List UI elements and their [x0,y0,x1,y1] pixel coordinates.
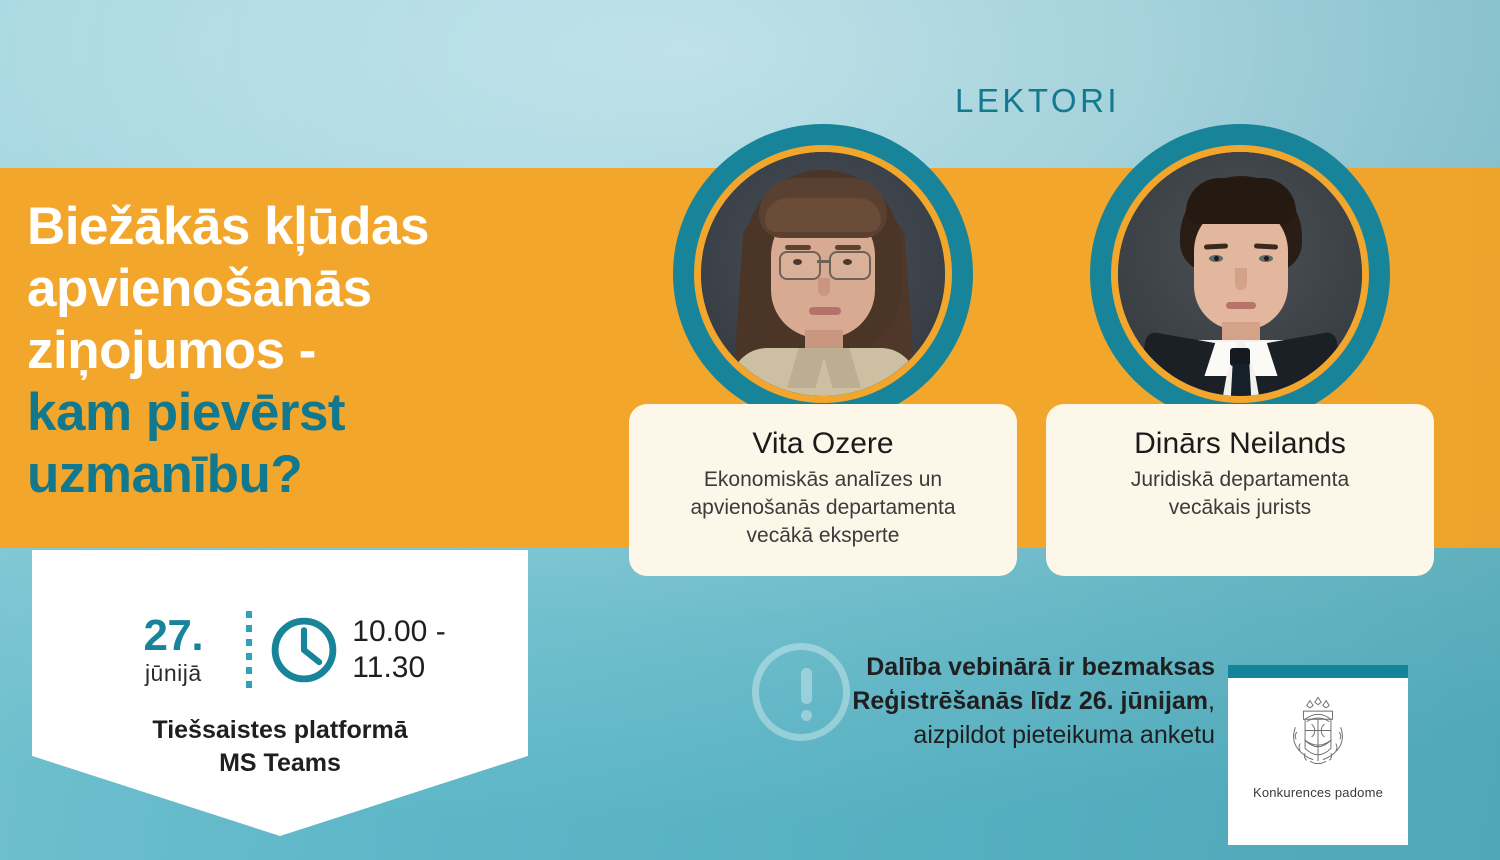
headline-line-1: Biežākās kļūdas [27,196,647,258]
nose [818,278,830,296]
hair-fringe-inner [765,198,881,232]
organisation-logo-card: Konkurences padome [1228,665,1408,845]
event-day: 27. [143,613,203,659]
mouth [1226,302,1256,309]
headline-line-3: ziņojumos - [27,320,647,382]
glasses-lens-right [829,251,871,280]
speaker-role-line-2: apvienošanās departamenta [649,494,997,522]
platform-line-1: Tiešsaistes platformā [32,714,528,747]
mouth [809,307,841,315]
speaker-name: Vita Ozere [649,426,997,462]
platform-line-2: MS Teams [32,747,528,780]
speaker-name: Dinārs Neilands [1066,426,1414,462]
registration-line-2: Reģistrēšanās līdz 26. jūnijam, [700,684,1215,718]
glasses-lens-left [779,251,821,280]
registration-line-1: Dalība vebinārā ir bezmaksas [700,650,1215,684]
registration-deadline: Reģistrēšanās līdz 26. jūnijam [852,687,1208,715]
page-title: Biežākās kļūdas apvienošanās ziņojumos -… [27,196,647,506]
eyebrow-right [835,245,861,250]
coat-of-arms-icon [1277,695,1359,779]
dotted-divider [246,611,252,689]
avatar-vita-ozere [673,124,973,424]
date-block: 27. jūnijā [114,613,232,687]
pupil-left [1214,256,1219,261]
necktie [1230,364,1252,396]
date-time-row: 27. jūnijā 10.00 - 11.30 [32,600,528,700]
nose [1235,268,1247,290]
registration-line-2-tail: , [1208,687,1215,715]
clock-icon [266,612,342,688]
event-platform: Tiešsaistes platformā MS Teams [32,714,528,780]
avatar-dinars-neilands [1090,124,1390,424]
headline-line-4: kam pievērst [27,382,647,444]
pupil-right [1264,256,1269,261]
speaker-card-1: Vita Ozere Ekonomiskās analīzes un apvie… [629,404,1017,576]
eyebrow-left [785,245,811,250]
registration-line-3: aizpildot pieteikuma anketu [700,718,1215,752]
event-month: jūnijā [145,659,202,687]
speaker-role-line-1: Ekonomiskās analīzes un [649,466,997,494]
avatar-photo [701,152,945,396]
avatar-inner-ring [694,145,952,403]
tie-knot [1230,348,1250,366]
headline-line-5: uzmanību? [27,444,647,506]
speaker-role-line-2: vecākais jurists [1066,494,1414,522]
event-time: 10.00 - 11.30 [352,614,445,686]
avatar-photo [1118,152,1362,396]
speakers-section-label: LEKTORI [955,82,1120,120]
banner-canvas: Biežākās kļūdas apvienošanās ziņojumos -… [0,0,1500,860]
avatar-inner-ring [1111,145,1369,403]
speaker-role-line-1: Juridiskā departamenta [1066,466,1414,494]
hair-top [1186,178,1296,224]
logo-top-bar [1228,665,1408,678]
headline-line-2: apvienošanās [27,258,647,320]
speaker-role-line-3: vecākā eksperte [649,522,997,550]
registration-info: Dalība vebinārā ir bezmaksas Reģistrēšan… [700,650,1215,752]
glasses-bridge [817,260,829,263]
speaker-card-2: Dinārs Neilands Juridiskā departamenta v… [1046,404,1434,576]
organisation-name: Konkurences padome [1228,785,1408,800]
